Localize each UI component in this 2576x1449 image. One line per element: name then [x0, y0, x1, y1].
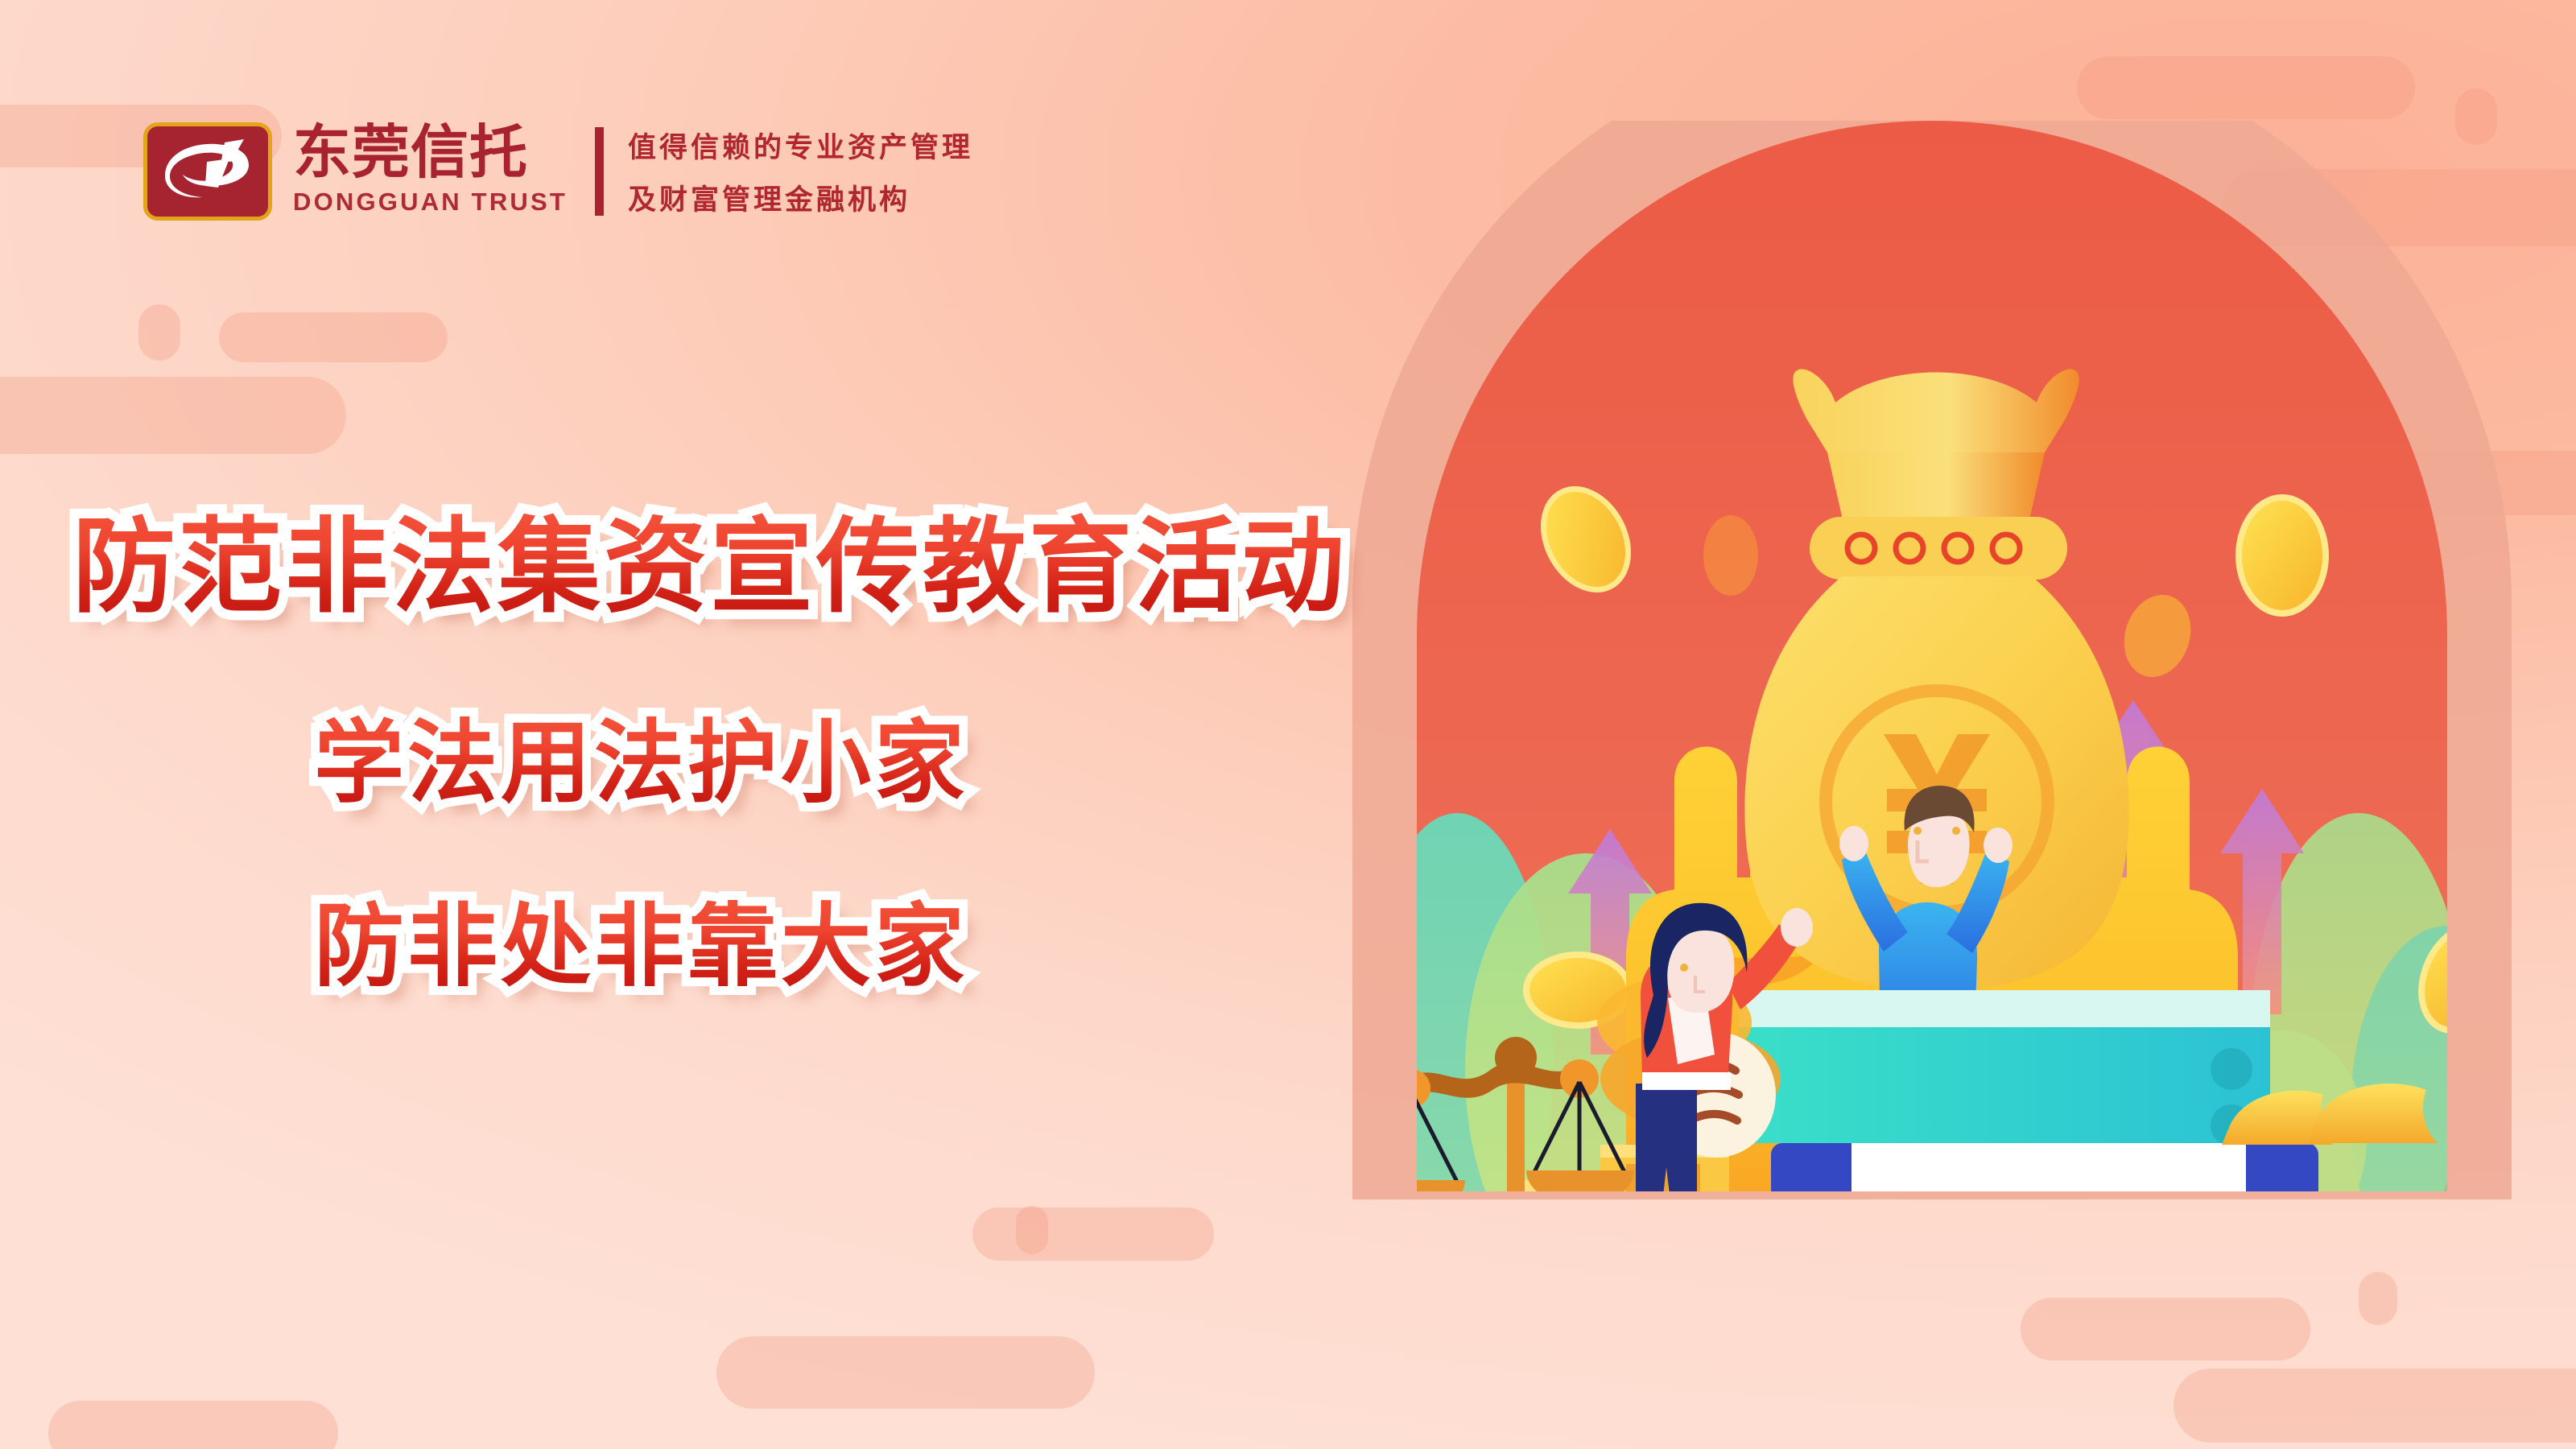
logo-divider — [595, 127, 604, 216]
decor-dot — [1016, 1206, 1048, 1254]
headline-line-2: 学法用法护小家 学法用法护小家 — [314, 690, 1368, 820]
tagline-line-1: 值得信赖的专业资产管理 — [628, 125, 973, 166]
headline-line-3-text: 防非处非靠大家 — [314, 894, 968, 999]
headline-line-2-text: 学法用法护小家 — [314, 711, 968, 815]
headline-line-1-text: 防范非法集资宣传教育活动 — [72, 507, 1348, 627]
headline-line-1: 防范非法集资宣传教育活动 防范非法集资宣传教育活动 — [72, 483, 1368, 632]
brand-logo: 东莞信托 DONGGUAN TRUST 值得信赖的专业资产管理 及财富管理金融机… — [143, 122, 973, 221]
tagline-line-2: 及财富管理金融机构 — [628, 177, 973, 218]
headline-block: 防范非法集资宣传教育活动 防范非法集资宣传教育活动 学法用法护小家 学法用法护小… — [0, 483, 1368, 1004]
decor-bar — [2077, 56, 2415, 119]
brand-name-en: DONGGUAN TRUST — [293, 187, 568, 218]
dongguan-trust-swoosh-logo-icon — [143, 122, 272, 221]
decor-bar — [48, 1401, 338, 1449]
decor-bar — [2173, 1368, 2576, 1443]
poster-canvas: 东莞信托 DONGGUAN TRUST 值得信赖的专业资产管理 及财富管理金融机… — [0, 0, 2576, 1449]
decor-bar — [972, 1207, 1214, 1261]
decor-bar — [716, 1336, 1095, 1409]
money-bag-hands-finance-illustration — [1320, 121, 2544, 1312]
decor-dot — [138, 304, 180, 361]
brand-names: 东莞信托 DONGGUAN TRUST — [293, 125, 568, 218]
brand-tagline: 值得信赖的专业资产管理 及财富管理金融机构 — [628, 125, 973, 218]
decor-bar — [219, 312, 448, 362]
headline-line-3: 防非处非靠大家 防非处非靠大家 — [314, 873, 1368, 1004]
decor-bar — [0, 377, 346, 454]
brand-name-cn: 东莞信托 — [293, 125, 568, 180]
